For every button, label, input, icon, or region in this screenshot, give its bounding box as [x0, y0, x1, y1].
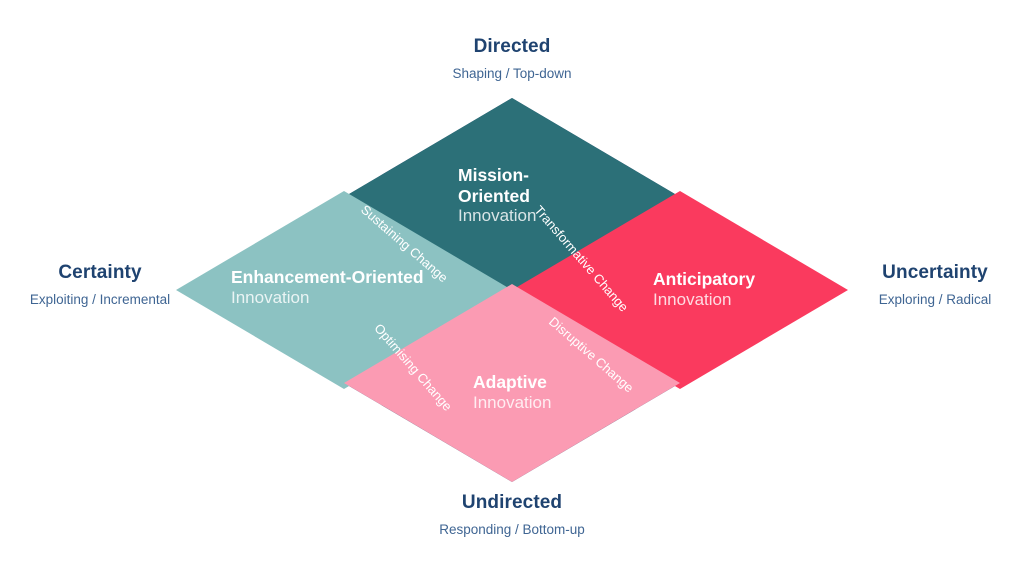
axis-pole-directed: Directed Shaping / Top-down [362, 36, 662, 81]
axis-pole-certainty-subtitle: Exploiting / Incremental [5, 292, 195, 308]
diamond-matrix [186, 98, 838, 482]
axis-pole-certainty-title: Certainty [5, 262, 195, 284]
axis-pole-uncertainty: Uncertainty Exploring / Radical [846, 262, 1024, 307]
axis-pole-certainty: Certainty Exploiting / Incremental [5, 262, 195, 307]
axis-pole-uncertainty-subtitle: Exploring / Radical [846, 292, 1024, 308]
axis-pole-directed-title: Directed [362, 36, 662, 58]
diagram-canvas: Directed Shaping / Top-down Undirected R… [0, 0, 1024, 576]
axis-pole-undirected-subtitle: Responding / Bottom-up [362, 522, 662, 538]
axis-pole-uncertainty-title: Uncertainty [846, 262, 1024, 284]
diamond-svg [186, 98, 838, 482]
axis-pole-undirected-title: Undirected [362, 492, 662, 514]
axis-pole-directed-subtitle: Shaping / Top-down [362, 66, 662, 82]
axis-pole-undirected: Undirected Responding / Bottom-up [362, 492, 662, 537]
